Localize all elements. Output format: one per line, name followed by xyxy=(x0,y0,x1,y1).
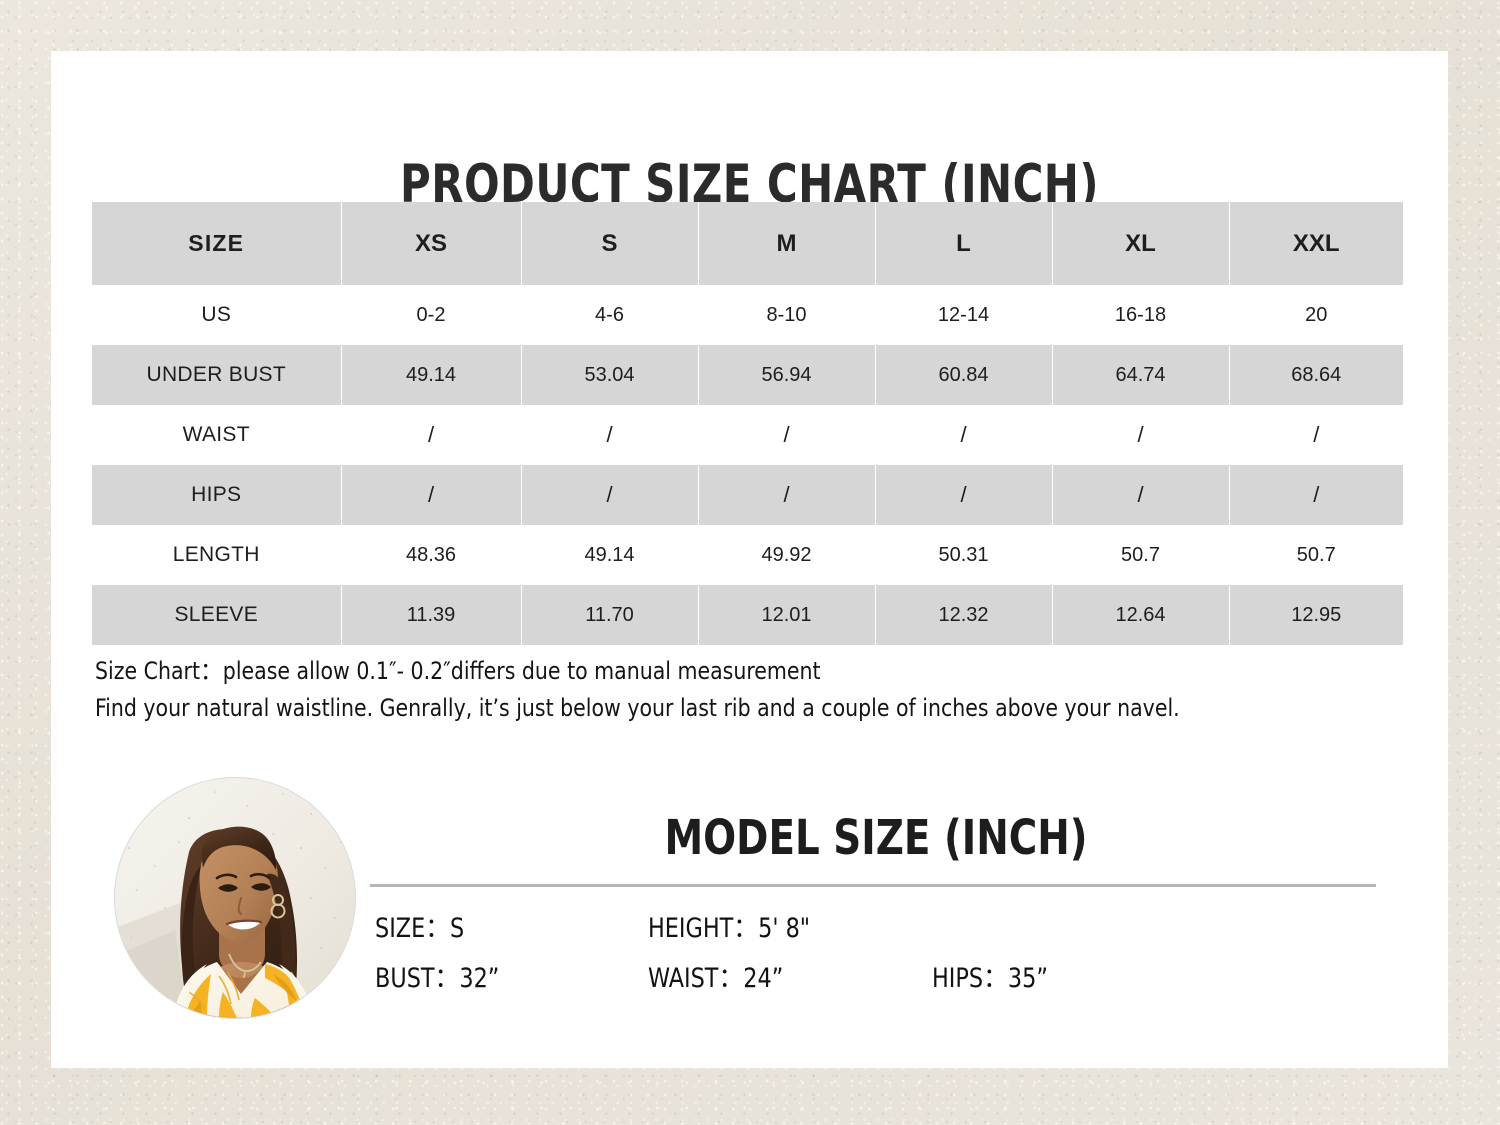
model-size-divider xyxy=(370,884,1376,887)
model-spec-hips: HIPS：35” xyxy=(932,956,1048,995)
table-cell: 11.70 xyxy=(521,585,698,645)
page-background: PRODUCT SIZE CHART (INCH) SIZEXSSMLXLXXL… xyxy=(0,0,1500,1125)
table-cell: 11.39 xyxy=(341,585,521,645)
table-cell: 64.74 xyxy=(1052,345,1229,405)
model-size-specs: SIZE：S HEIGHT：5' 8" BUST：32” WAIST：24” H… xyxy=(375,906,1385,1006)
table-cell: 12.01 xyxy=(698,585,875,645)
note-line-1: Size Chart：please allow 0.1″- 0.2″differ… xyxy=(95,653,1330,690)
table-row-label: WAIST xyxy=(92,405,341,465)
table-cell: / xyxy=(1052,405,1229,465)
table-row: SLEEVE11.3911.7012.0112.3212.6412.95 xyxy=(92,585,1403,645)
table-cell: 12-14 xyxy=(875,285,1052,345)
table-cell: 49.92 xyxy=(698,525,875,585)
table-header-size: SIZE xyxy=(92,202,341,285)
table-cell: / xyxy=(698,405,875,465)
table-cell: 56.94 xyxy=(698,345,875,405)
table-cell: / xyxy=(341,465,521,525)
table-row: LENGTH48.3649.1449.9250.3150.750.7 xyxy=(92,525,1403,585)
model-spec-bust: BUST：32” xyxy=(375,956,499,995)
table-header-xxl: XXL xyxy=(1229,202,1403,285)
table-header-xl: XL xyxy=(1052,202,1229,285)
table-cell: 50.7 xyxy=(1052,525,1229,585)
table-cell: / xyxy=(875,405,1052,465)
table-cell: / xyxy=(875,465,1052,525)
content-panel: PRODUCT SIZE CHART (INCH) SIZEXSSMLXLXXL… xyxy=(51,51,1448,1068)
table-header-row: SIZEXSSMLXLXXL xyxy=(92,202,1403,285)
measurement-notes: Size Chart：please allow 0.1″- 0.2″differ… xyxy=(95,653,1330,727)
table-cell: 12.95 xyxy=(1229,585,1403,645)
table-cell: 53.04 xyxy=(521,345,698,405)
table-header-xs: XS xyxy=(341,202,521,285)
table-cell: 49.14 xyxy=(521,525,698,585)
model-specs-row-1: SIZE：S HEIGHT：5' 8" xyxy=(375,906,1385,956)
table-cell: / xyxy=(1052,465,1229,525)
table-row: WAIST////// xyxy=(92,405,1403,465)
table-cell: 16-18 xyxy=(1052,285,1229,345)
size-chart-table: SIZEXSSMLXLXXLUS0-24-68-1012-1416-1820UN… xyxy=(92,202,1403,645)
table-row-label: HIPS xyxy=(92,465,341,525)
model-size-title: MODEL SIZE (INCH) xyxy=(423,810,1328,866)
table-header-m: M xyxy=(698,202,875,285)
table-cell: 12.32 xyxy=(875,585,1052,645)
model-spec-size: SIZE：S xyxy=(375,906,464,945)
table-cell: 4-6 xyxy=(521,285,698,345)
table-cell: 8-10 xyxy=(698,285,875,345)
table-row-label: US xyxy=(92,285,341,345)
table-row-label: SLEEVE xyxy=(92,585,341,645)
table-cell: 60.84 xyxy=(875,345,1052,405)
table-row: HIPS////// xyxy=(92,465,1403,525)
table-cell: / xyxy=(341,405,521,465)
model-photo-illustration xyxy=(115,778,355,1018)
model-spec-waist: WAIST：24” xyxy=(648,956,783,995)
table-cell: / xyxy=(521,405,698,465)
table-cell: / xyxy=(698,465,875,525)
table-cell: 20 xyxy=(1229,285,1403,345)
table-cell: 50.31 xyxy=(875,525,1052,585)
table-row-label: LENGTH xyxy=(92,525,341,585)
table-header-l: L xyxy=(875,202,1052,285)
model-photo xyxy=(115,778,355,1018)
note-line-2: Find your natural waistline. Genrally, i… xyxy=(95,690,1330,727)
table-cell: 50.7 xyxy=(1229,525,1403,585)
table-cell: 68.64 xyxy=(1229,345,1403,405)
table-cell: 12.64 xyxy=(1052,585,1229,645)
table-header-s: S xyxy=(521,202,698,285)
table-cell: / xyxy=(521,465,698,525)
model-specs-row-2: BUST：32” WAIST：24” HIPS：35” xyxy=(375,956,1385,1006)
table-row-label: UNDER BUST xyxy=(92,345,341,405)
table-cell: 48.36 xyxy=(341,525,521,585)
table-cell: / xyxy=(1229,405,1403,465)
model-spec-height: HEIGHT：5' 8" xyxy=(648,906,810,945)
table-cell: / xyxy=(1229,465,1403,525)
table-row: UNDER BUST49.1453.0456.9460.8464.7468.64 xyxy=(92,345,1403,405)
table-cell: 49.14 xyxy=(341,345,521,405)
table-row: US0-24-68-1012-1416-1820 xyxy=(92,285,1403,345)
table-cell: 0-2 xyxy=(341,285,521,345)
